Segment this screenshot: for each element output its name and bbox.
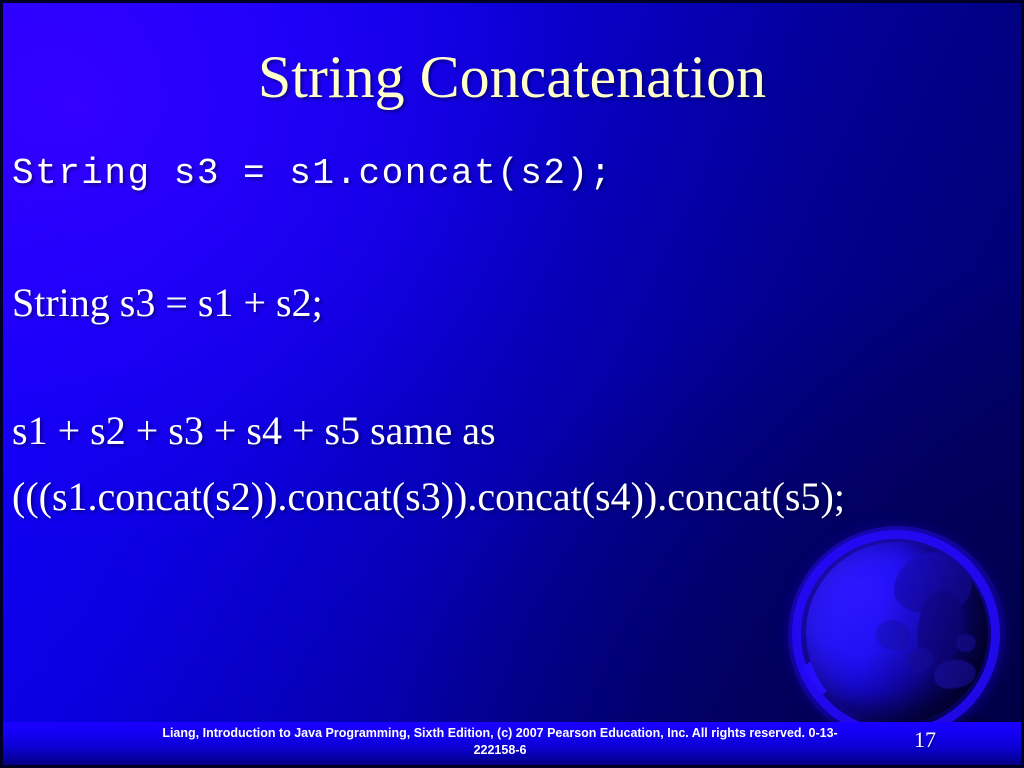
footer-credit: Liang, Introduction to Java Programming,… bbox=[140, 725, 860, 759]
code-line-chained-plus: s1 + s2 + s3 + s4 + s5 same as bbox=[12, 408, 1004, 454]
slide-page-number: 17 bbox=[905, 727, 945, 753]
body-spacer bbox=[12, 326, 1004, 408]
globe-shading bbox=[806, 542, 988, 724]
slide-body: String s3 = s1.concat(s2); String s3 = s… bbox=[12, 152, 1004, 520]
body-spacer bbox=[12, 196, 1004, 280]
globe-sphere bbox=[806, 542, 988, 724]
body-spacer bbox=[12, 454, 1004, 474]
slide-title: String Concatenation bbox=[0, 46, 1024, 109]
presentation-slide: String Concatenation String s3 = s1.conc… bbox=[0, 0, 1024, 768]
code-line-concat-method: String s3 = s1.concat(s2); bbox=[12, 152, 1004, 196]
code-line-plus-operator: String s3 = s1 + s2; bbox=[12, 280, 1004, 326]
globe-icon bbox=[786, 524, 1024, 748]
code-line-chained-concat: (((s1.concat(s2)).concat(s3)).concat(s4)… bbox=[12, 474, 1004, 520]
